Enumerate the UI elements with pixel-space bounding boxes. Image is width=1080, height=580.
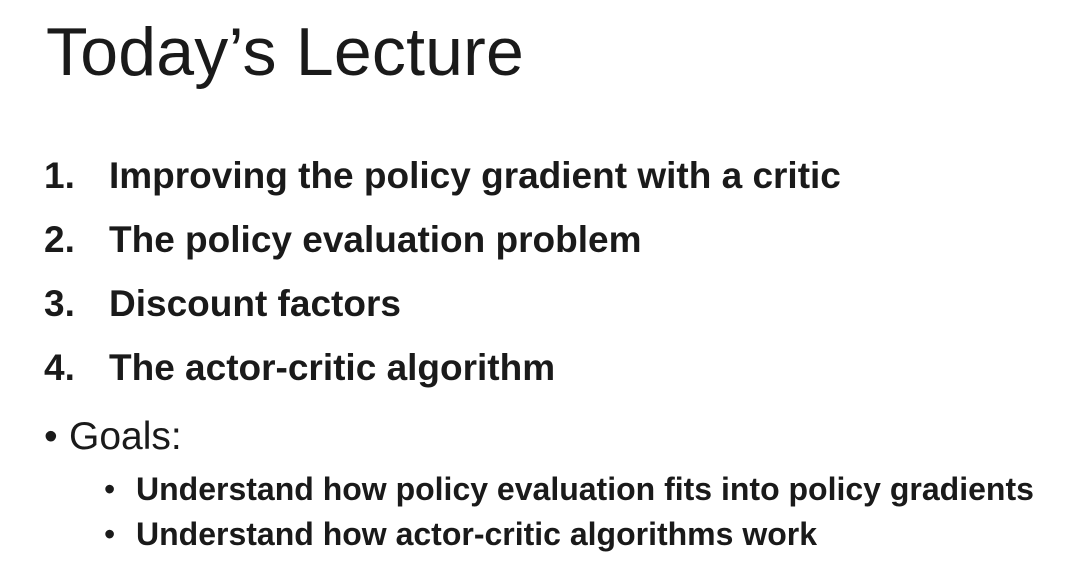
goals-sub-item-label: Understand how actor-critic algorithms w… <box>136 518 817 550</box>
goals-label: Goals: <box>69 417 182 456</box>
list-item-label: Discount factors <box>109 285 401 322</box>
list-item-label: The actor-critic algorithm <box>109 349 555 386</box>
list-item: • Goals: <box>0 417 1080 469</box>
bullet-icon: • <box>104 518 115 550</box>
list-item: • Understand how policy evaluation fits … <box>0 473 1080 518</box>
list-item-number: 4. <box>44 349 100 386</box>
list-item-label: The policy evaluation problem <box>109 221 642 258</box>
lecture-slide: Today’s Lecture 1. Improving the policy … <box>0 0 1080 580</box>
list-item-label: Improving the policy gradient with a cri… <box>109 157 841 194</box>
list-item: 3. Discount factors <box>0 285 1080 349</box>
list-item-number: 3. <box>44 285 100 322</box>
goals-sub-item-label: Understand how policy evaluation fits in… <box>136 473 1034 505</box>
page-title: Today’s Lecture <box>46 14 524 90</box>
list-item-number: 1. <box>44 157 100 194</box>
goals-sub-list: • Understand how policy evaluation fits … <box>0 473 1080 563</box>
list-item-number: 2. <box>44 221 100 258</box>
goals-section: • Goals: <box>0 417 1080 469</box>
numbered-agenda-list: 1. Improving the policy gradient with a … <box>0 157 1080 413</box>
list-item: 4. The actor-critic algorithm <box>0 349 1080 413</box>
bullet-icon: • <box>104 473 115 505</box>
list-item: 1. Improving the policy gradient with a … <box>0 157 1080 221</box>
list-item: 2. The policy evaluation problem <box>0 221 1080 285</box>
list-item: • Understand how actor-critic algorithms… <box>0 518 1080 563</box>
bullet-icon: • <box>44 417 58 456</box>
